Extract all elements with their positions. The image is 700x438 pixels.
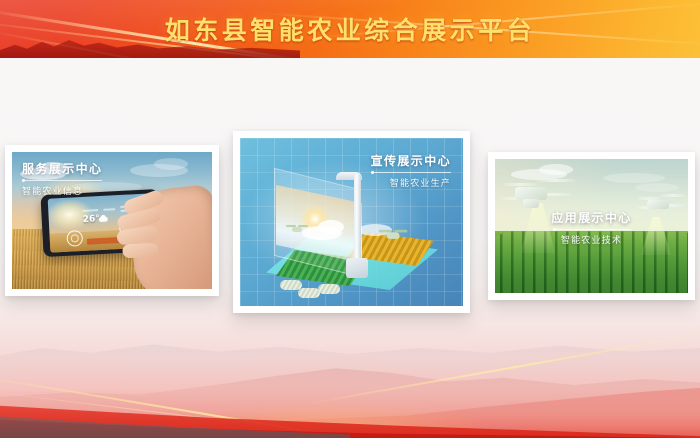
drone-tank	[523, 199, 539, 208]
card-promotion-center-text: 宣传展示中心 智能农业生产	[371, 152, 451, 189]
card-service-center-text: 服务展示中心 智能农业信息	[22, 160, 102, 197]
drone-rotor	[661, 194, 685, 197]
cloud-shape	[539, 164, 573, 175]
iso-hay-bale	[318, 284, 340, 294]
phone-temperature-readout: 26°	[83, 214, 101, 225]
finger	[122, 243, 158, 258]
drone-icon	[286, 224, 308, 234]
cloud-icon	[99, 217, 108, 222]
header-banner: 如东县智能农业综合展示平台	[0, 0, 700, 58]
background-sun-glow	[0, 360, 700, 438]
drone-rotor	[537, 179, 575, 182]
cloud-shape	[635, 183, 679, 192]
card-promotion-center[interactable]: 宣传展示中心 智能农业生产	[233, 131, 470, 313]
background-mountain-near	[0, 372, 700, 438]
iso-lamp-pole	[354, 174, 361, 266]
card-promotion-center-title: 宣传展示中心	[371, 152, 451, 169]
card-service-center[interactable]: 26° 服务展示中心 智能农业信息	[5, 145, 219, 296]
hand	[126, 184, 212, 289]
drone-rotor	[503, 183, 537, 186]
title-divider	[553, 229, 631, 230]
background-light-ray	[0, 372, 453, 438]
card-application-center-subtitle: 智能农业技术	[495, 233, 688, 246]
card-promotion-center-image: 宣传展示中心 智能农业生产	[240, 138, 463, 306]
cloud-shape	[154, 158, 188, 170]
presentation-slide: 如东县智能农业综合展示平台	[0, 0, 700, 438]
card-promotion-center-subtitle: 智能农业生产	[371, 176, 451, 189]
iso-lamp-base	[346, 258, 368, 278]
background-light-ray	[300, 331, 700, 406]
drone-body	[647, 200, 669, 209]
card-service-center-subtitle: 智能农业信息	[22, 184, 102, 197]
background-mountain-far	[0, 330, 700, 390]
background-red-band	[0, 392, 700, 438]
background-light-ray	[0, 390, 337, 435]
iso-hay-bale	[298, 288, 320, 298]
card-application-center-text: 应用展示中心 智能农业技术	[495, 209, 688, 246]
card-service-center-title: 服务展示中心	[22, 160, 102, 177]
card-application-center-title: 应用展示中心	[495, 209, 688, 226]
background-grey-band	[0, 414, 700, 438]
drone-body	[387, 232, 400, 239]
card-application-center-image: 应用展示中心 智能农业技术	[495, 159, 688, 293]
card-application-center[interactable]: 应用展示中心 智能农业技术	[488, 152, 695, 300]
cloud-shape	[603, 173, 665, 183]
card-service-center-image: 26° 服务展示中心 智能农业信息	[12, 152, 212, 289]
drone-icon	[379, 229, 408, 242]
title-divider	[22, 180, 102, 181]
drone-body	[292, 227, 302, 232]
background-red-band	[0, 400, 700, 438]
hud-meta-line	[103, 208, 115, 210]
background-mountain-mid	[0, 355, 700, 415]
title-divider	[371, 172, 451, 173]
page-title: 如东县智能农业综合展示平台	[0, 0, 700, 58]
